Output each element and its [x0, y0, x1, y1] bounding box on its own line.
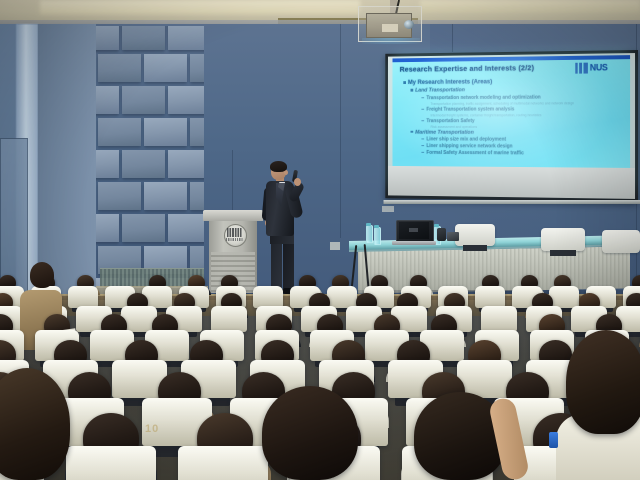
auditorium-photo: Research Expertise and Interests (2/2) N…: [0, 0, 640, 480]
seat-shading: [66, 446, 156, 480]
seat-shading: [327, 286, 357, 308]
blue-object: [549, 432, 558, 448]
seat-shading: [549, 286, 579, 308]
audience-head: [30, 262, 54, 288]
audience-head-foreground: [262, 386, 358, 480]
seat-shading: [211, 306, 247, 332]
seat-shading: [68, 286, 98, 308]
seat-shading: [481, 306, 517, 332]
seat-shading: [253, 286, 283, 308]
audience-head-foreground: [566, 330, 640, 434]
seat-number: 10: [145, 423, 159, 435]
audience-area: 10: [0, 0, 640, 480]
seat-shading: [475, 286, 505, 308]
seat-shading: [178, 446, 268, 480]
